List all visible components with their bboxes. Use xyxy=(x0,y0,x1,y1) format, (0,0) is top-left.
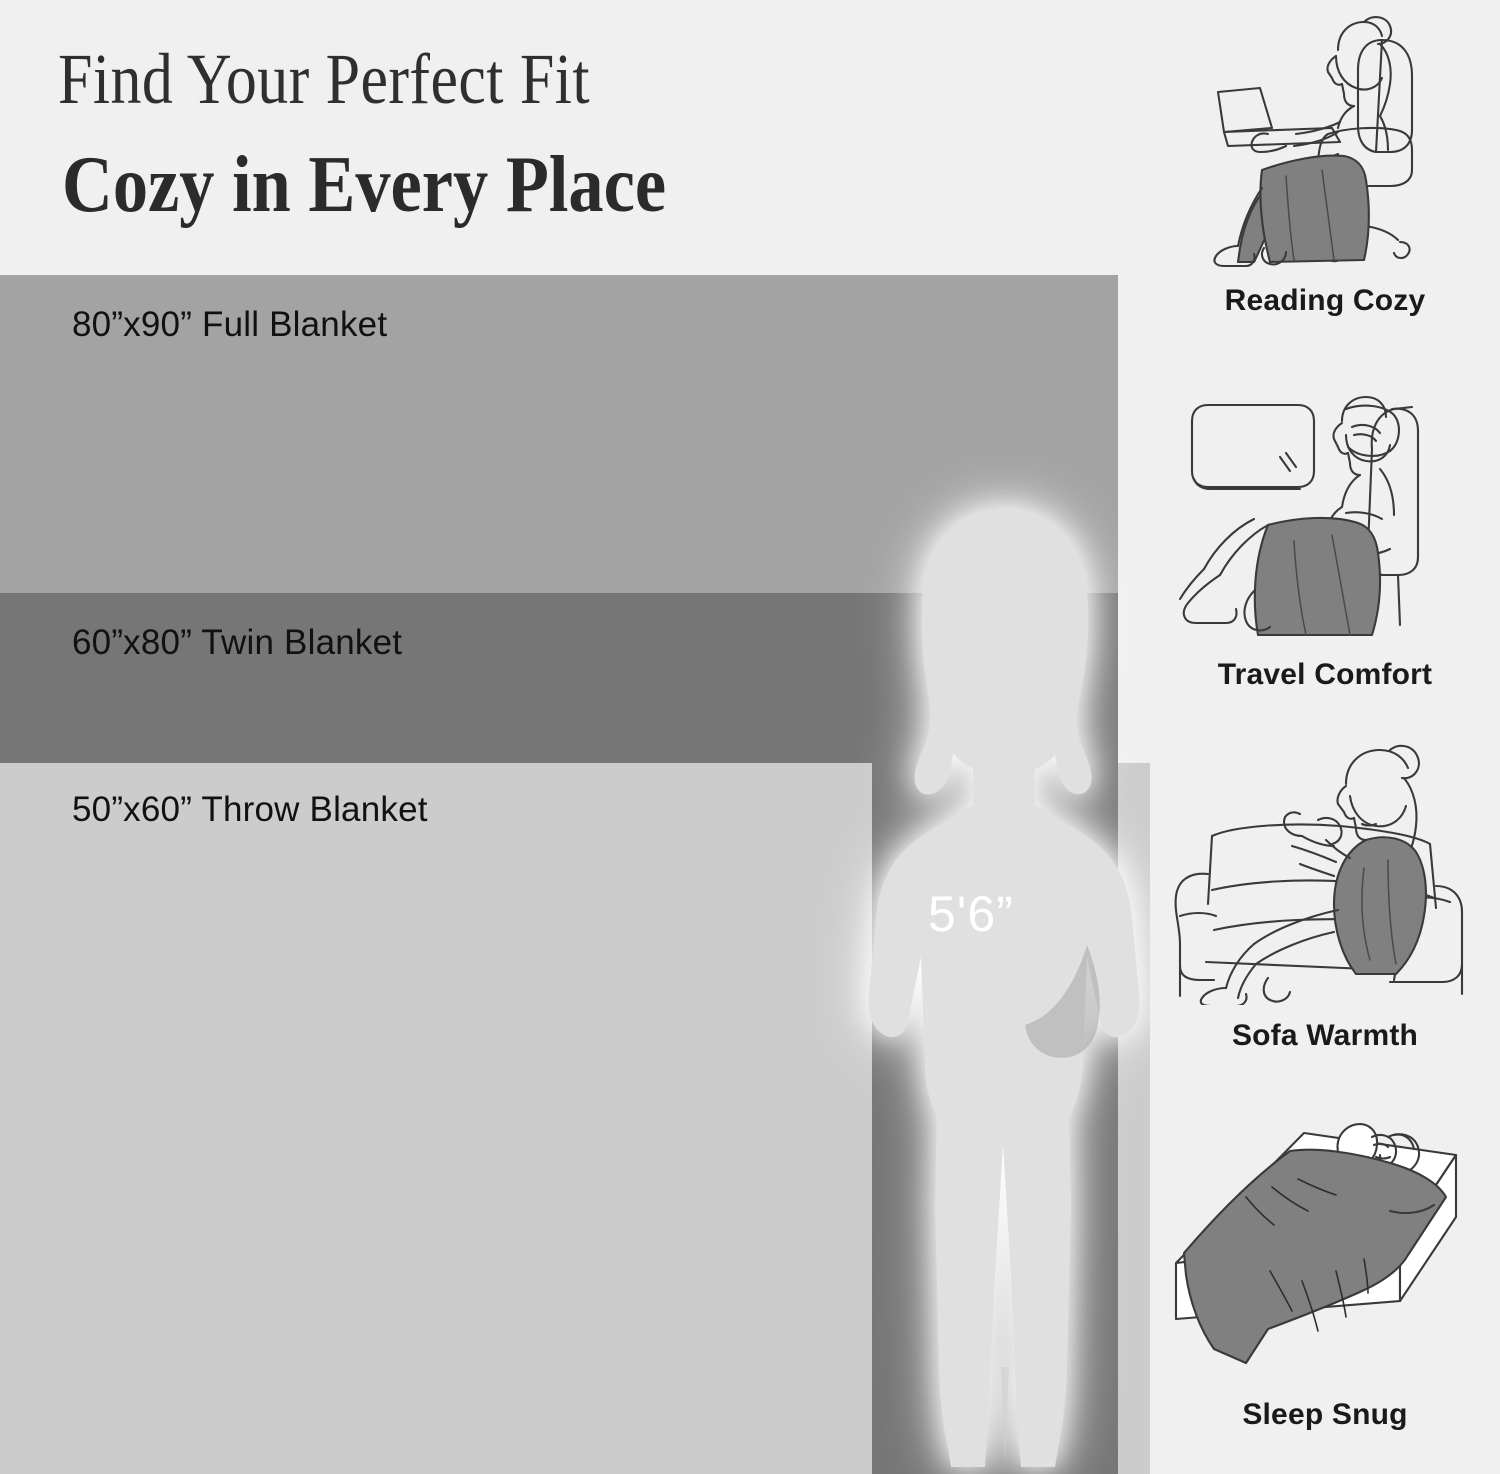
human-silhouette xyxy=(855,505,1155,1474)
use-case-travel: Travel Comfort xyxy=(1150,385,1500,692)
woman-sofa-reading-icon xyxy=(1150,740,1500,1005)
size-label-full: 80”x90” Full Blanket xyxy=(72,305,387,345)
use-case-rail: Reading Cozy xyxy=(1150,0,1500,1474)
woman-laptop-office-chair-icon xyxy=(1150,10,1500,270)
size-label-twin: 60”x80” Twin Blanket xyxy=(72,623,402,663)
header: Find Your Perfect Fit Cozy in Every Plac… xyxy=(0,0,1150,275)
use-case-label-sofa: Sofa Warmth xyxy=(1150,1019,1500,1053)
page-title: Cozy in Every Place xyxy=(62,140,666,231)
use-case-sofa: Sofa Warmth xyxy=(1150,740,1500,1053)
use-case-label-reading: Reading Cozy xyxy=(1150,284,1500,318)
use-case-sleep: Sleep Snug xyxy=(1150,1105,1500,1432)
size-label-throw: 50”x60” Throw Blanket xyxy=(72,790,428,830)
use-case-label-sleep: Sleep Snug xyxy=(1150,1398,1500,1432)
blanket-size-infographic: Find Your Perfect Fit Cozy in Every Plac… xyxy=(0,0,1500,1474)
height-marker-label: 5'6” xyxy=(928,885,1014,943)
woman-airplane-seat-icon xyxy=(1150,385,1500,640)
person-sleeping-bed-icon xyxy=(1150,1105,1500,1380)
header-eyebrow: Find Your Perfect Fit xyxy=(58,38,590,121)
use-case-reading: Reading Cozy xyxy=(1150,10,1500,318)
use-case-label-travel: Travel Comfort xyxy=(1150,658,1500,692)
